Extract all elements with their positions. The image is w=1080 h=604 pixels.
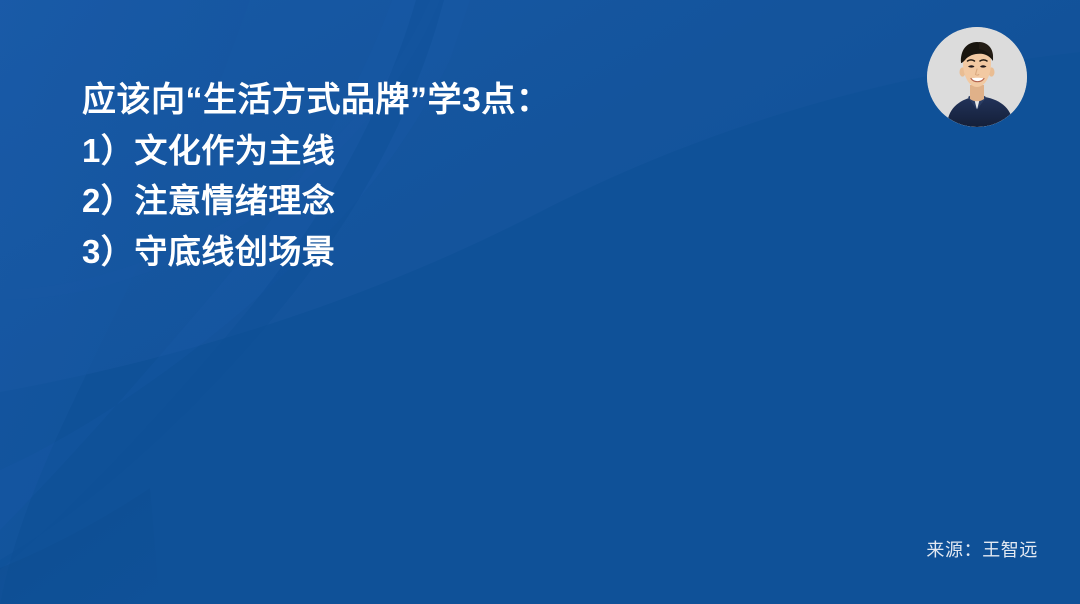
slide-text-block: 应该向“生活方式品牌”学3点： 1）文化作为主线 2）注意情绪理念 3）守底线创…	[82, 76, 842, 277]
avatar-portrait-photo	[927, 27, 1027, 127]
slide-bullet-list: 1）文化作为主线 2）注意情绪理念 3）守底线创场景	[82, 126, 842, 276]
slide-headline: 应该向“生活方式品牌”学3点：	[82, 76, 842, 124]
bullet-item-1: 1）文化作为主线	[82, 126, 842, 176]
slide-canvas: 应该向“生活方式品牌”学3点： 1）文化作为主线 2）注意情绪理念 3）守底线创…	[0, 0, 1080, 604]
source-credit: 来源：王智远	[926, 536, 1038, 562]
bullet-item-2: 2）注意情绪理念	[82, 176, 842, 226]
avatar	[927, 27, 1027, 127]
bullet-item-3: 3）守底线创场景	[82, 227, 842, 277]
